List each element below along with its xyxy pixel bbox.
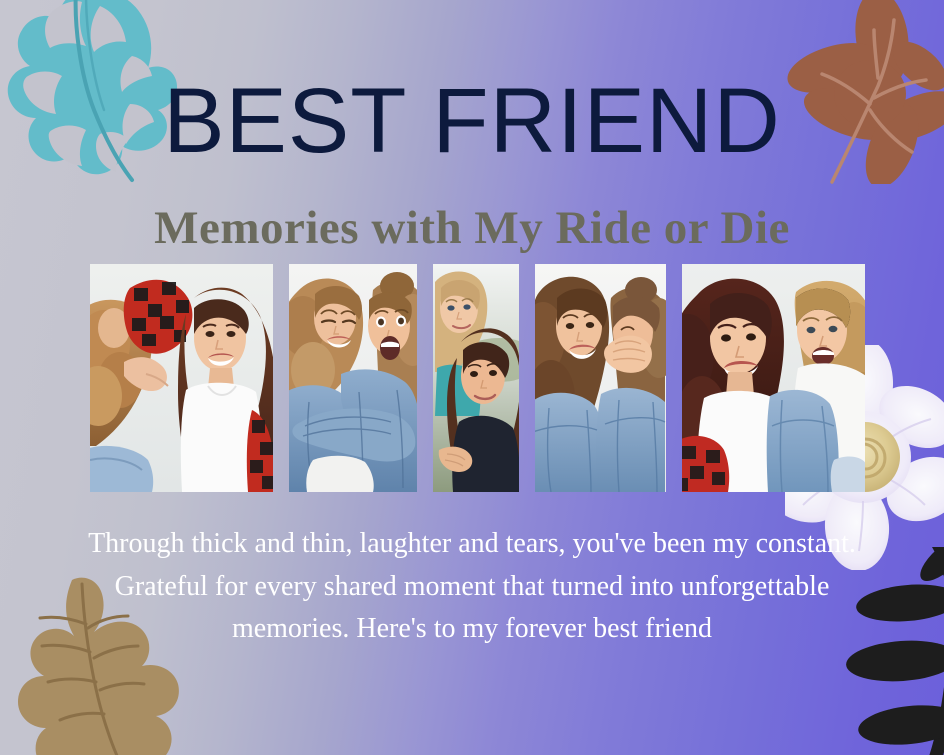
photo-item xyxy=(90,264,273,492)
body-paragraph: Through thick and thin, laughter and tea… xyxy=(72,523,872,651)
poster-canvas: BEST FRIEND Memories with My Ride or Die xyxy=(0,0,944,755)
page-title: BEST FRIEND xyxy=(0,75,944,167)
photo-item xyxy=(289,264,417,492)
page-subtitle: Memories with My Ride or Die xyxy=(0,201,944,255)
photo-item xyxy=(433,264,519,492)
photo-item xyxy=(682,264,865,492)
photo-strip xyxy=(90,264,855,492)
photo-item xyxy=(535,264,666,492)
